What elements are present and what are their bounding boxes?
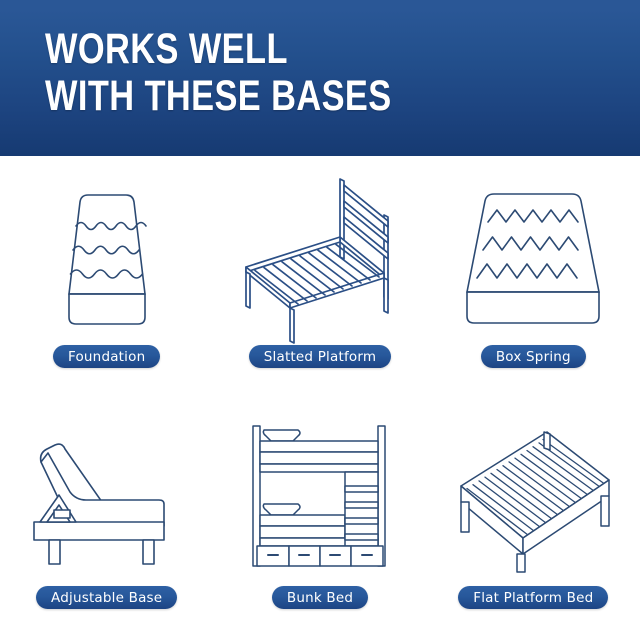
base-label-slatted-platform[interactable]: Slatted Platform — [249, 345, 391, 368]
base-label-box-spring[interactable]: Box Spring — [481, 345, 586, 368]
flat-platform-bed-illustration — [427, 412, 640, 582]
slatted-platform-bed-icon — [246, 179, 388, 343]
header-banner: WORKS WELL WITH THESE BASES — [0, 0, 640, 156]
base-card-foundation[interactable]: Foundation — [0, 156, 213, 398]
base-label-foundation[interactable]: Foundation — [53, 345, 160, 368]
base-label-flat-platform-bed[interactable]: Flat Platform Bed — [458, 586, 608, 609]
box-spring-icon — [467, 194, 599, 323]
bunk-bed-icon — [253, 426, 385, 566]
bunk-bed-illustration — [213, 412, 426, 582]
base-label-adjustable-base[interactable]: Adjustable Base — [36, 586, 177, 609]
foundation-mattress-icon — [69, 195, 146, 324]
flat-platform-bed-icon — [461, 432, 609, 572]
base-label-bunk-bed[interactable]: Bunk Bed — [272, 586, 368, 609]
box-spring-illustration — [427, 166, 640, 341]
foundation-illustration — [0, 166, 213, 341]
base-card-adjustable-base[interactable]: Adjustable Base — [0, 398, 213, 640]
adjustable-base-illustration — [0, 412, 213, 582]
base-card-flat-platform-bed[interactable]: Flat Platform Bed — [427, 398, 640, 640]
page-title: WORKS WELL WITH THESE BASES — [45, 26, 392, 120]
base-card-box-spring[interactable]: Box Spring — [427, 156, 640, 398]
base-card-bunk-bed[interactable]: Bunk Bed — [213, 398, 426, 640]
works-well-with-these-bases-graphic: WORKS WELL WITH THESE BASES — [0, 0, 640, 640]
bases-grid: Foundation — [0, 156, 640, 640]
base-card-slatted-platform[interactable]: Slatted Platform — [213, 156, 426, 398]
adjustable-base-icon — [34, 444, 164, 564]
slatted-platform-illustration — [213, 166, 426, 341]
